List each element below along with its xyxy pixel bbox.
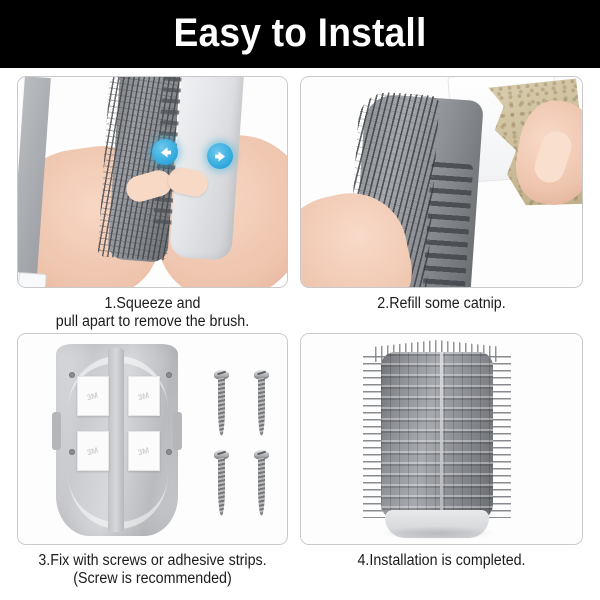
step-2: 2.Refill some catnip.: [300, 76, 583, 313]
adhesive-pad-label: 3M: [137, 390, 150, 402]
screw-hole: [69, 372, 75, 378]
arrow-right-badge: [207, 143, 233, 169]
bracket-spine: [108, 348, 124, 532]
steps-grid: 1.Squeeze and pull apart to remove the b…: [0, 68, 600, 600]
screw: [216, 370, 227, 436]
adhesive-pad-label: 3M: [137, 445, 150, 457]
adhesive-pad: 3M: [77, 431, 109, 471]
adhesive-pad: 3M: [128, 376, 160, 416]
adhesive-pad-label: 3M: [86, 445, 99, 457]
step-1-caption: 1.Squeeze and pull apart to remove the b…: [28, 295, 277, 330]
screw-hole: [69, 449, 75, 455]
step-3-caption: 3.Fix with screws or adhesive strips. (S…: [28, 552, 277, 587]
step-1-photo: [17, 76, 288, 288]
step-4-photo: [300, 333, 583, 545]
screw: [216, 450, 227, 516]
adhesive-pad: 3M: [77, 376, 109, 416]
step-1: 1.Squeeze and pull apart to remove the b…: [17, 76, 288, 330]
step-4: 4.Installation is completed.: [300, 333, 583, 570]
screw: [256, 370, 267, 436]
arrow-left-badge: [152, 139, 178, 165]
step-2-photo: [300, 76, 583, 288]
step-2-caption: 2.Refill some catnip.: [311, 295, 571, 313]
page-title: Easy to Install: [174, 13, 427, 55]
screw: [256, 450, 267, 516]
header-banner: Easy to Install: [0, 0, 600, 68]
bracket-tab-right: [173, 412, 182, 450]
step-3-photo: 3M 3M 3M 3M: [17, 333, 288, 545]
adhesive-pad: 3M: [128, 431, 160, 471]
step-4-caption: 4.Installation is completed.: [311, 552, 571, 570]
step-3: 3M 3M 3M 3M: [17, 333, 288, 587]
shell-window: [17, 272, 47, 288]
screw-hole: [166, 372, 172, 378]
screw-hole: [166, 449, 172, 455]
adhesive-pad-label: 3M: [86, 390, 99, 402]
bracket-tab-left: [52, 412, 61, 450]
infographic-page: Easy to Install: [0, 0, 600, 600]
